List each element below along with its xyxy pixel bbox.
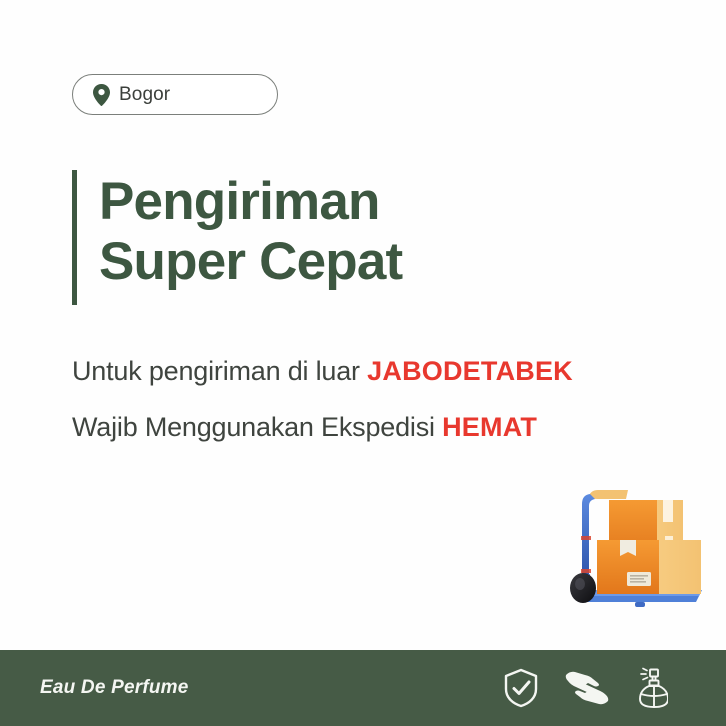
perfume-spray-bottle-icon	[636, 667, 668, 709]
map-pin-icon	[93, 84, 110, 106]
shield-check-icon	[504, 668, 538, 708]
copy-line-1-highlight: JABODETABEK	[367, 356, 573, 386]
copy-line-1: Untuk pengiriman di luar JABODETABEK	[72, 358, 672, 385]
brand-name: Eau De Perfume	[40, 677, 189, 699]
promo-poster: Bogor Pengiriman Super Cepat Untuk pengi…	[0, 0, 726, 726]
location-pill[interactable]: Bogor	[72, 74, 278, 115]
copy-line-1-prefix: Untuk pengiriman di luar	[72, 356, 367, 386]
page-title: Pengiriman Super Cepat	[99, 170, 402, 305]
headline-block: Pengiriman Super Cepat	[72, 170, 402, 305]
body-copy: Untuk pengiriman di luar JABODETABEK Waj…	[72, 358, 672, 441]
headline-accent-bar	[72, 170, 77, 305]
copy-line-2-highlight: HEMAT	[442, 412, 537, 442]
copy-line-2: Wajib Menggunakan Ekspedisi HEMAT	[72, 414, 672, 441]
hand-truck-with-boxes-illustration	[565, 478, 720, 623]
copy-line-2-prefix: Wajib Menggunakan Ekspedisi	[72, 412, 442, 442]
headline-line-2: Super Cepat	[99, 232, 402, 292]
footer-bar: Eau De Perfume	[0, 650, 726, 726]
location-label: Bogor	[119, 85, 170, 105]
handover-hands-icon	[564, 670, 610, 706]
footer-icon-group	[504, 667, 668, 709]
headline-line-1: Pengiriman	[99, 172, 402, 232]
